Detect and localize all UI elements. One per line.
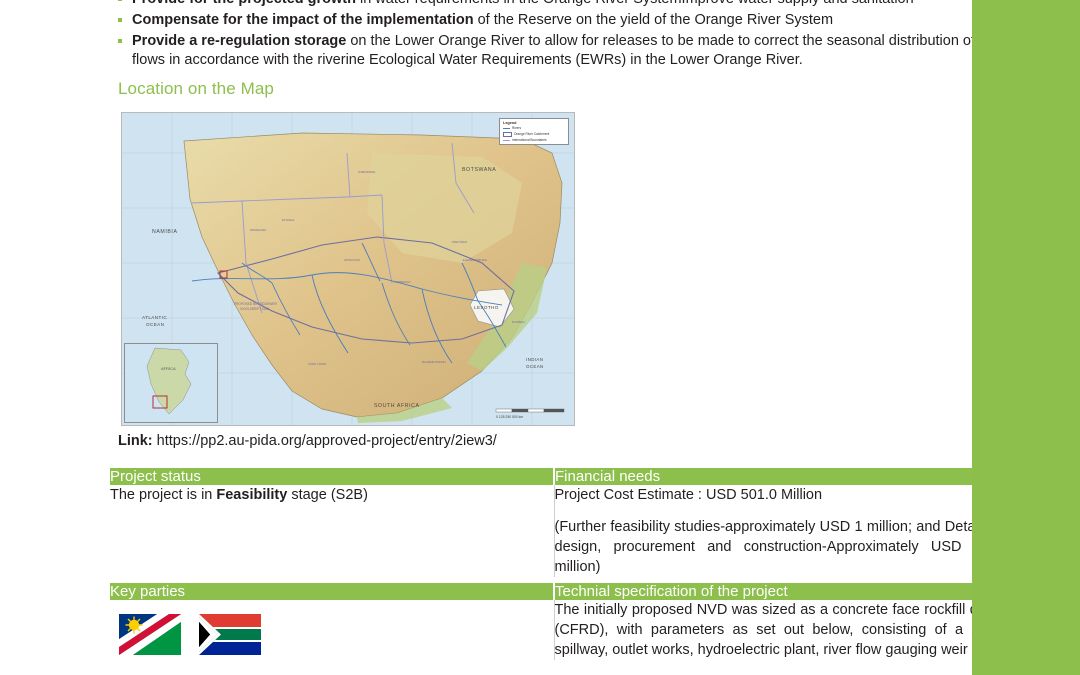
link-url[interactable]: https://pp2.au-pida.org/approved-project… bbox=[157, 433, 497, 449]
legend-swatch-catchment bbox=[503, 132, 512, 137]
svg-text:OCEAN: OCEAN bbox=[146, 322, 164, 327]
svg-text:NAMIBIA: NAMIBIA bbox=[152, 229, 178, 235]
cell-financial-needs: Project Cost Estimate : USD 501.0 Millio… bbox=[554, 485, 998, 577]
cell-key-parties bbox=[110, 600, 554, 660]
map-scalebar: 0 125 250 500 km bbox=[494, 407, 568, 419]
svg-text:UPINGTON: UPINGTON bbox=[344, 258, 360, 262]
svg-text:INDIAN: INDIAN bbox=[526, 357, 543, 362]
location-map: BOTSWANA NAMIBIA SOUTH AFRICA LESOTHO AT… bbox=[121, 112, 575, 426]
right-green-band bbox=[972, 0, 1080, 675]
bullet-bold-text: Compensate for the impact of the impleme… bbox=[132, 12, 474, 28]
svg-text:KIMBERLEY: KIMBERLEY bbox=[394, 280, 411, 284]
header-project-status: Project status bbox=[110, 468, 554, 485]
table-row: The initially proposed NVD was sized as … bbox=[110, 600, 998, 660]
svg-text:SOUTH AFRICA: SOUTH AFRICA bbox=[374, 403, 420, 409]
svg-text:AFRICA: AFRICA bbox=[161, 366, 176, 371]
bullet-text: Provide for the projected growth in wate… bbox=[132, 0, 998, 9]
document-page: Provide for the projected growth in wate… bbox=[0, 0, 972, 675]
svg-text:JOHANNESBURG: JOHANNESBURG bbox=[462, 258, 488, 262]
project-status-text: The project is in Feasibility stage (S2B… bbox=[110, 485, 554, 505]
cost-breakdown-text: (Further feasibility studies-approximate… bbox=[555, 517, 999, 577]
status-post-text: stage (S2B) bbox=[287, 487, 368, 503]
bullet-text: Compensate for the impact of the impleme… bbox=[132, 11, 998, 30]
map-legend: Legend Rivers Orange River Catchment Int… bbox=[499, 118, 569, 145]
list-item: Provide for the projected growth in wate… bbox=[118, 0, 998, 9]
header-technical-spec: Technial specification of the project bbox=[554, 583, 998, 600]
bullet-square-icon bbox=[118, 0, 122, 1]
cost-estimate-text: Project Cost Estimate : USD 501.0 Millio… bbox=[555, 485, 999, 505]
cell-project-status: The project is in Feasibility stage (S2B… bbox=[110, 485, 554, 577]
svg-text:OCEAN: OCEAN bbox=[526, 364, 544, 369]
svg-text:0 125 250 500 km: 0 125 250 500 km bbox=[496, 415, 523, 419]
cell-technical-spec: The initially proposed NVD was sized as … bbox=[554, 600, 998, 660]
link-label: Link: bbox=[118, 433, 153, 449]
project-info-table: Project status Financial needs The proje… bbox=[110, 468, 998, 660]
flag-list bbox=[110, 600, 554, 655]
table-header-row-2: Key parties Technial specification of th… bbox=[110, 583, 998, 600]
header-financial-needs: Financial needs bbox=[554, 468, 998, 485]
legend-label: International Boundaries bbox=[512, 138, 547, 142]
legend-item: Orange River Catchment bbox=[503, 132, 565, 137]
svg-text:BLOEMFONTEIN: BLOEMFONTEIN bbox=[422, 360, 446, 364]
svg-text:GABORONE: GABORONE bbox=[358, 170, 375, 174]
bullet-bold-text: Provide a re-regulation storage bbox=[132, 33, 346, 49]
svg-text:LESOTHO: LESOTHO bbox=[474, 305, 499, 310]
south-africa-flag bbox=[199, 614, 261, 655]
map-inset-africa: AFRICA bbox=[124, 343, 218, 423]
legend-title: Legend bbox=[503, 121, 565, 125]
objectives-bullet-list: Provide for the projected growth in wate… bbox=[118, 0, 998, 72]
svg-text:VIOOLSDRIFT DAM: VIOOLSDRIFT DAM bbox=[240, 307, 270, 311]
bullet-rest-text: of the Reserve on the yield of the Orang… bbox=[474, 12, 833, 28]
bullet-bold-text: Provide for the projected growth bbox=[132, 0, 356, 7]
table-header-row: Project status Financial needs bbox=[110, 468, 998, 485]
svg-text:BOTSWANA: BOTSWANA bbox=[462, 167, 496, 173]
source-link-line: Link: https://pp2.au-pida.org/approved-p… bbox=[118, 433, 497, 449]
legend-label: Orange River Catchment bbox=[514, 132, 549, 136]
legend-item: Rivers bbox=[503, 126, 565, 130]
svg-text:ETOSHA: ETOSHA bbox=[282, 218, 294, 222]
namibia-flag bbox=[119, 614, 181, 655]
bullet-text: Provide a re-regulation storage on the L… bbox=[132, 32, 998, 70]
bullet-square-icon bbox=[118, 18, 122, 22]
svg-text:DURBAN: DURBAN bbox=[512, 320, 525, 324]
technical-spec-text: The initially proposed NVD was sized as … bbox=[555, 600, 999, 660]
legend-swatch-rivers bbox=[503, 128, 510, 129]
legend-item: International Boundaries bbox=[503, 138, 565, 142]
legend-swatch-boundaries bbox=[503, 140, 510, 141]
right-green-band-inner bbox=[980, 0, 1080, 675]
svg-text:PRETORIA: PRETORIA bbox=[452, 240, 467, 244]
svg-text:PROPOSED NOORDOEWER: PROPOSED NOORDOEWER bbox=[234, 302, 278, 306]
svg-text:CAPE TOWN: CAPE TOWN bbox=[308, 362, 326, 366]
status-bold-text: Feasibility bbox=[216, 487, 287, 503]
table-row: The project is in Feasibility stage (S2B… bbox=[110, 485, 998, 577]
list-item: Compensate for the impact of the impleme… bbox=[118, 11, 998, 30]
header-key-parties: Key parties bbox=[110, 583, 554, 600]
section-heading: Location on the Map bbox=[118, 79, 274, 99]
svg-text:ATLANTIC: ATLANTIC bbox=[142, 315, 167, 320]
legend-label: Rivers bbox=[512, 126, 521, 130]
bullet-rest-text: in water requirements in the Orange Rive… bbox=[356, 0, 914, 7]
list-item: Provide a re-regulation storage on the L… bbox=[118, 32, 998, 70]
bullet-square-icon bbox=[118, 39, 122, 43]
status-pre-text: The project is in bbox=[110, 487, 216, 503]
inset-graphic: AFRICA bbox=[125, 344, 217, 422]
svg-text:WINDHOEK: WINDHOEK bbox=[250, 228, 267, 232]
